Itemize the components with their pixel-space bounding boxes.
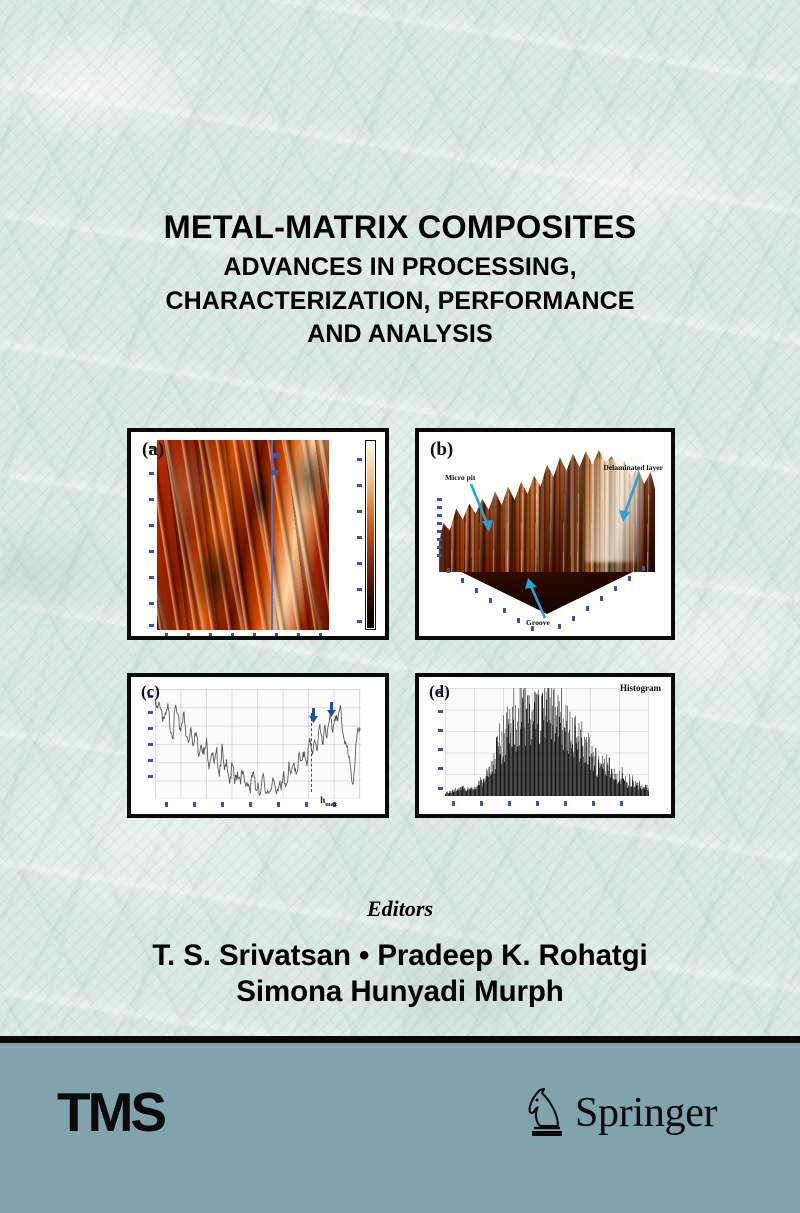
arrow-delaminated-layer-icon xyxy=(619,472,643,524)
subtitle-line-2: CHARACTERIZATION, PERFORMANCE xyxy=(0,285,800,318)
editors-heading: Editors xyxy=(0,896,800,922)
annotation-groove: Groove xyxy=(526,618,550,627)
histogram-plot-area xyxy=(445,688,649,796)
axis-tick xyxy=(614,586,617,591)
axis-tick xyxy=(503,608,506,613)
axis-tick xyxy=(438,787,443,790)
axis-tick xyxy=(508,801,511,806)
afm-colorbar xyxy=(365,440,376,630)
editors-line-1: T. S. Srivatsan • Pradeep K. Rohatgi xyxy=(0,939,800,973)
axis-tick xyxy=(148,759,153,762)
hmax-label: hmax xyxy=(320,795,337,808)
arrow-down-right-icon xyxy=(327,702,336,717)
springer-logo: Springer xyxy=(525,1082,740,1144)
axis-tick xyxy=(475,588,478,593)
tms-logo: TMS xyxy=(57,1084,187,1142)
panel-d-label: (d) xyxy=(429,682,450,702)
axis-tick xyxy=(277,802,280,807)
colorbar-tick xyxy=(357,620,362,623)
colorbar-tick xyxy=(357,484,362,487)
axis-tick xyxy=(461,578,464,583)
axis-tick xyxy=(586,606,589,611)
axis-tick xyxy=(620,801,623,806)
book-cover: METAL-MATRIX COMPOSITES ADVANCES IN PROC… xyxy=(0,0,800,1213)
axis-tick xyxy=(249,802,252,807)
arrow-groove-icon xyxy=(523,576,549,620)
axis-tick xyxy=(437,530,442,533)
axis-tick xyxy=(187,633,190,638)
tms-logo-text: TMS xyxy=(57,1084,165,1142)
figure-grid: (a) xyxy=(127,428,675,818)
editors-block: Editors T. S. Srivatsan • Pradeep K. Roh… xyxy=(0,896,800,1009)
figure-panel-b: (b) xyxy=(415,428,675,640)
panel-c-label: (c) xyxy=(141,682,160,702)
arrow-down-left-icon xyxy=(309,708,318,723)
hmax-subscript: max xyxy=(325,801,337,808)
knight-chess-piece-icon xyxy=(525,1087,565,1139)
axis-tick xyxy=(275,633,278,638)
axis-tick xyxy=(438,767,443,770)
axis-tick xyxy=(437,538,442,541)
afm-surface-map xyxy=(157,440,329,630)
springer-logo-text: Springer xyxy=(575,1092,717,1134)
axis-tick xyxy=(148,711,153,714)
axis-tick xyxy=(437,506,442,509)
panel-b-label: (b) xyxy=(430,439,453,461)
axis-tick xyxy=(165,633,168,638)
axis-tick xyxy=(231,633,234,638)
afm-marker-icon xyxy=(271,470,278,475)
axis-tick xyxy=(148,727,153,730)
axis-tick xyxy=(572,616,575,621)
editors-line-2: Simona Hunyadi Murph xyxy=(0,975,800,1009)
afm-colorbar-gradient xyxy=(367,442,374,628)
axis-tick xyxy=(305,802,308,807)
axis-tick xyxy=(536,801,539,806)
axis-tick xyxy=(438,710,443,713)
axis-tick xyxy=(149,624,154,627)
histogram-title: Histogram xyxy=(620,683,661,693)
colorbar-tick xyxy=(357,510,362,513)
axis-tick xyxy=(148,743,153,746)
book-subtitle: ADVANCES IN PROCESSING, CHARACTERIZATION… xyxy=(0,251,800,351)
axis-tick xyxy=(564,801,567,806)
axis-tick xyxy=(438,748,443,751)
footer-divider xyxy=(0,1036,800,1043)
afm-cursor-line xyxy=(271,440,273,630)
axis-tick xyxy=(489,598,492,603)
axis-tick xyxy=(592,801,595,806)
axis-tick xyxy=(437,498,442,501)
axis-tick xyxy=(149,524,154,527)
figure-panel-c: (c) hmax xyxy=(127,673,389,818)
axis-tick xyxy=(253,633,256,638)
axis-tick xyxy=(628,576,631,581)
hmax-marker-line xyxy=(311,713,312,792)
axis-tick xyxy=(209,633,212,638)
afm-marker-icon xyxy=(273,453,280,458)
axis-tick xyxy=(480,801,483,806)
axis-tick xyxy=(193,802,196,807)
axis-tick xyxy=(437,514,442,517)
histogram-bars xyxy=(445,688,649,796)
axis-tick xyxy=(642,566,645,571)
title-block: METAL-MATRIX COMPOSITES ADVANCES IN PROC… xyxy=(0,208,800,351)
axis-tick xyxy=(319,633,322,638)
axis-tick xyxy=(149,576,154,579)
axis-tick xyxy=(149,602,154,605)
axis-tick xyxy=(447,568,450,573)
figure-panel-d: (d) Histogram xyxy=(415,673,675,818)
axis-tick xyxy=(437,554,442,557)
subtitle-line-3: AND ANALYSIS xyxy=(0,318,800,351)
axis-tick xyxy=(437,522,442,525)
book-main-title: METAL-MATRIX COMPOSITES xyxy=(0,208,800,246)
axis-tick xyxy=(149,550,154,553)
panel-a-label: (a) xyxy=(142,439,164,461)
annotation-micro-pit: Micro pit xyxy=(445,473,475,482)
colorbar-tick xyxy=(357,562,362,565)
arrow-micro-pit-icon xyxy=(469,482,495,534)
axis-tick xyxy=(165,802,168,807)
figure-panel-a: (a) xyxy=(127,428,389,640)
colorbar-tick xyxy=(357,588,362,591)
axis-tick xyxy=(438,729,443,732)
axis-tick xyxy=(558,624,561,629)
subtitle-line-1: ADVANCES IN PROCESSING, xyxy=(0,251,800,284)
axis-tick xyxy=(149,472,154,475)
axis-tick xyxy=(148,775,153,778)
axis-tick xyxy=(600,596,603,601)
axis-tick xyxy=(437,546,442,549)
axis-tick xyxy=(517,618,520,623)
colorbar-tick xyxy=(357,458,362,461)
annotation-delaminated-layer: Delaminated layer xyxy=(603,463,663,472)
afm-shading-overlay xyxy=(157,440,329,630)
axis-tick xyxy=(297,633,300,638)
axis-tick xyxy=(221,802,224,807)
axis-tick xyxy=(149,498,154,501)
colorbar-tick xyxy=(357,536,362,539)
axis-tick xyxy=(452,801,455,806)
